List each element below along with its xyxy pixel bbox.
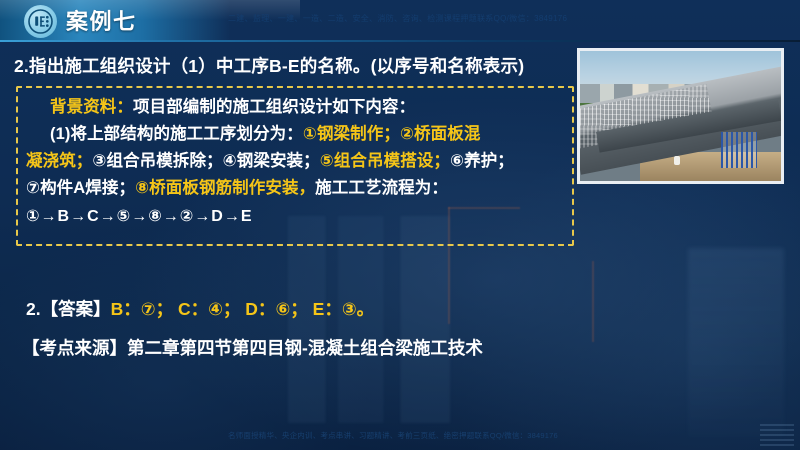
answer-e-value: ③。 <box>342 299 374 319</box>
crane-mast-2-icon <box>592 261 594 342</box>
answer-prefix: 2.【答案】 <box>26 299 111 319</box>
answer-line: 2.【答案】B：⑦； C：④； D：⑥； E：③。 <box>26 296 374 322</box>
process-line-3-end: 施工工艺流程为： <box>315 179 448 197</box>
process-line-1-highlight: ①钢梁制作；②桥面板混 <box>303 125 481 143</box>
question-text: 2.指出施工组织设计（1）中工序B-E的名称。(以序号和名称表示) <box>14 54 580 78</box>
header-promo-text: 二建、监理、一建、一造、二造、安全、消防、咨询、检测课程押题联系QQ/微信：38… <box>228 11 628 27</box>
footer-decoration <box>760 424 794 446</box>
answer-d-value: ⑥； <box>275 299 307 319</box>
photo-worker <box>674 156 680 165</box>
process-flow-sequence: ①→B→C→⑤→⑧→②→D→E <box>26 204 564 230</box>
answer-b-value: ⑦； <box>141 299 173 319</box>
slide-header-bar: 案例七 二建、监理、一建、一造、二造、安全、消防、咨询、检测课程押题联系QQ/微… <box>0 0 800 42</box>
process-line-1-prefix: (1)将上部结构的施工工序划分为： <box>50 125 303 143</box>
footer-promo-text: 名师面授精华、央企内训、考点串讲、习题精讲、考前三页纸、绝密押题联系QQ/微信：… <box>228 429 628 443</box>
exam-badge-icon <box>24 5 57 38</box>
process-line-3-highlight: ⑧桥面板钢筋制作安装， <box>135 179 315 197</box>
photo-blue-scaffold <box>721 132 757 168</box>
process-line-3-prefix: ⑦构件A焊接； <box>26 179 135 197</box>
process-line-2-middle: ③组合吊模拆除；④钢梁安装； <box>92 152 319 170</box>
background-material-label-rest: 项目部编制的施工组织设计如下内容： <box>133 98 415 116</box>
process-line-3: ⑦构件A焊接；⑧桥面板钢筋制作安装，施工工艺流程为： <box>26 175 564 202</box>
background-material-heading: 背景资料：项目部编制的施工组织设计如下内容： <box>26 94 564 121</box>
answer-c-label: C： <box>178 299 208 319</box>
background-material-label: 背景资料： <box>50 98 133 116</box>
process-line-2: 凝浇筑；③组合吊模拆除；④钢梁安装；⑤组合吊模搭设；⑥养护； <box>26 148 564 175</box>
process-line-2-highlight-a: 凝浇筑； <box>26 152 92 170</box>
answer-e-label: E： <box>313 299 342 319</box>
background-material-box: 背景资料：项目部编制的施工组织设计如下内容： (1)将上部结构的施工工序划分为：… <box>16 86 574 246</box>
header-underline <box>0 40 800 42</box>
process-line-1: (1)将上部结构的施工工序划分为：①钢梁制作；②桥面板混 <box>26 121 564 148</box>
answer-b-label: B： <box>111 299 141 319</box>
knowledge-source-line: 【考点来源】第二章第四节第四目钢-混凝土组合梁施工技术 <box>22 335 483 361</box>
bridge-construction-photo <box>577 48 784 184</box>
answer-d-label: D： <box>245 299 275 319</box>
process-line-2-end: ⑥养护； <box>450 152 514 170</box>
process-line-2-highlight-b: ⑤组合吊模搭设； <box>320 152 450 170</box>
page-title: 案例七 <box>66 6 137 38</box>
answer-c-value: ④； <box>208 299 240 319</box>
